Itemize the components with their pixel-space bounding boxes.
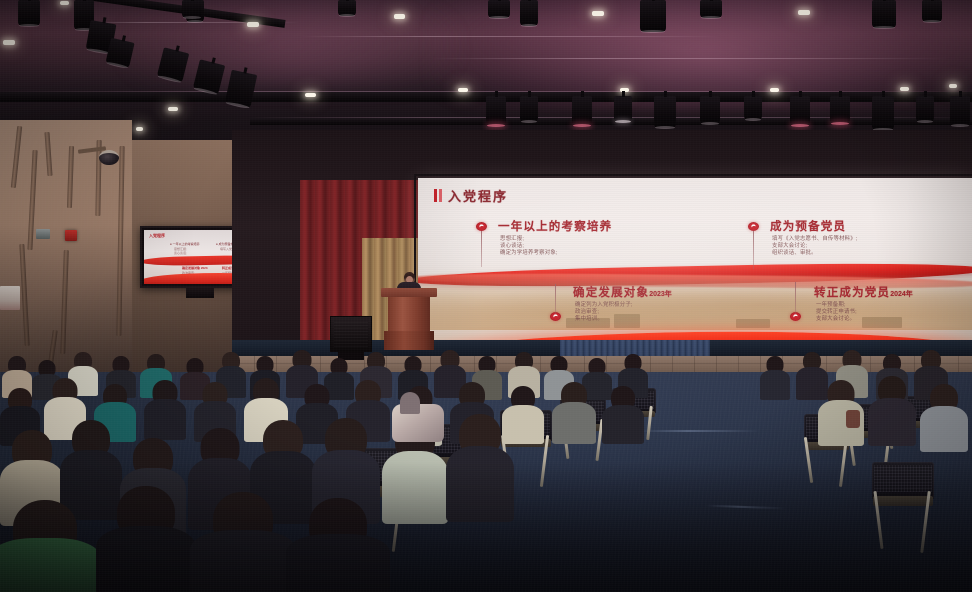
node-connector-line (753, 231, 754, 269)
downlight (247, 22, 259, 27)
stage-light-fixture (520, 96, 538, 122)
stage-light-fixture (950, 96, 970, 126)
downlight (458, 88, 468, 92)
truss-highlight (250, 117, 972, 118)
stage-light-fixture (182, 0, 202, 18)
stage-light-fixture (700, 0, 722, 18)
wall-device-gray (36, 229, 50, 239)
stage-light-fixture (572, 96, 592, 126)
podium-top (381, 288, 437, 297)
node-year: 2024年 (890, 291, 913, 298)
node-connector-line (795, 282, 796, 314)
node-heading: 确定发展对象2023年 (573, 284, 672, 300)
stage-light-fixture (486, 96, 506, 126)
audience-member (144, 380, 186, 440)
node-heading: 转正成为党员2024年 (814, 284, 913, 300)
node-detail-line: 集中培训。 (575, 316, 633, 323)
node-detail-line: 确定为学培养考察对象; (500, 250, 558, 257)
stage-light-fixture (18, 0, 40, 26)
monitor-node-text: 确定发展对象 2023 (182, 266, 208, 270)
downlight (592, 11, 604, 16)
node-heading: 一年以上的考察培养 (498, 218, 612, 234)
stage-light-fixture (654, 96, 676, 128)
stage-light-fixture (790, 96, 810, 126)
ceiling-panel-line (300, 36, 720, 37)
stage-light-fixture (700, 96, 720, 124)
stage-light-fixture (872, 96, 894, 130)
audience-member (0, 500, 100, 592)
downlight (3, 40, 15, 45)
audience-member (760, 356, 790, 400)
stage-light-fixture (872, 0, 896, 28)
node-connector-line (555, 284, 556, 314)
stage-light-fixture (488, 0, 510, 18)
audience-member (920, 384, 968, 452)
led-presentation-screen: 入党程序 一年以上的考察培养 思想汇报; 谈心谈话; 确定为学培养考察对象; 成… (418, 178, 972, 356)
downlight (394, 14, 405, 19)
audience-member (190, 492, 296, 592)
downlight (168, 107, 178, 111)
podium-body (388, 297, 430, 331)
node-marker-icon (476, 222, 487, 231)
downlight (900, 87, 909, 91)
audience-member (868, 376, 916, 446)
audience-member (552, 382, 596, 444)
audience-member (286, 498, 390, 592)
audience-member (602, 386, 644, 444)
auditorium-scene: 入党程序 ● 一年以上的考察培养 思想汇报; 谈心谈话; ● 成为预备党员 填写… (0, 0, 972, 592)
slide-title-group: 入党程序 (434, 186, 508, 205)
downlight (770, 88, 779, 92)
slide-ruins-shape (862, 317, 902, 328)
ceiling-panel-line (430, 58, 950, 59)
wall-notice-sign (0, 286, 20, 310)
monitor-stand (186, 288, 214, 298)
lighting-truss-secondary (250, 118, 972, 125)
wooden-podium (381, 288, 437, 350)
node-detail-lines: 一年预备期; 提交转正申请书; 支部大会讨论。 (816, 302, 857, 324)
stage-light-fixture (614, 96, 632, 122)
stage-light-fixture (830, 96, 850, 124)
node-heading: 成为预备党员 (770, 218, 846, 234)
slide-title: 入党程序 (448, 186, 508, 205)
node-year: 2023年 (649, 291, 672, 298)
carpet-seam (640, 430, 760, 432)
stage-loudspeaker (330, 316, 372, 352)
node-detail-line: 支部大会讨论。 (816, 316, 857, 323)
node-detail-line: 组织谈话、审批。 (772, 250, 858, 257)
slide-ruins-shape (736, 319, 770, 328)
node-marker-icon (748, 222, 759, 231)
stage-light-fixture (520, 0, 538, 26)
stage-light-fixture (744, 96, 762, 120)
podium-base (384, 331, 434, 350)
title-accent-bars-icon (434, 189, 442, 202)
stage-light-fixture (922, 0, 942, 22)
downlight (60, 1, 69, 5)
monitor-node-sub: 谈心谈话; (174, 251, 187, 255)
fire-alarm-strobe (65, 230, 77, 241)
chair[interactable] (872, 462, 934, 528)
stage-light-fixture (916, 96, 934, 122)
audience-member (818, 380, 864, 446)
downlight (798, 10, 810, 15)
node-detail-lines: 确定列为入党积极分子; 政治审查; 集中培训。 (575, 302, 633, 324)
stage-light-fixture (338, 0, 356, 16)
audience-member (96, 486, 196, 592)
node-heading-text: 确定发展对象 (573, 287, 649, 299)
stage-light-fixture (640, 0, 666, 32)
monitor-slide-title: 入党程序 (149, 233, 165, 239)
audience-member (446, 414, 514, 522)
node-detail-lines: 填写《入党志愿书、自传等材料》; 支部大会讨论; 组织谈话、审批。 (772, 236, 858, 258)
downlight (136, 127, 143, 131)
node-heading-text: 转正成为党员 (814, 287, 890, 299)
node-connector-line (481, 231, 482, 267)
backpack-strap (400, 392, 420, 414)
node-detail-lines: 思想汇报; 谈心谈话; 确定为学培养考察对象; (500, 236, 558, 258)
dome-security-camera (99, 150, 119, 165)
downlight (305, 93, 316, 97)
truss-highlight (0, 91, 972, 92)
downlight (949, 84, 957, 88)
monitor-node-text: ● 一年以上的考察培养 (170, 242, 200, 246)
